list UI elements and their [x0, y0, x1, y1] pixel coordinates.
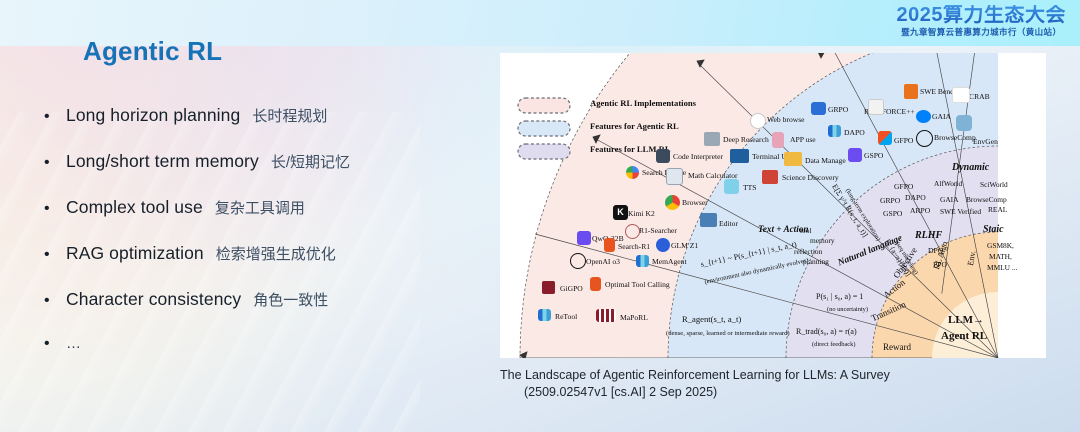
- agentic-algo-item: GSPO: [883, 210, 902, 218]
- impl-tool-label: Data Manage: [805, 157, 846, 165]
- microsoft-gfpo-icon: [878, 131, 892, 145]
- agentic-algo-item: ARPO: [910, 207, 930, 215]
- bullet-marker: •: [44, 201, 66, 217]
- llmrl-env-item: MMLU ...: [987, 264, 1017, 272]
- agentic-env-item: AlfWorld: [934, 180, 962, 188]
- r1-searcher-logo-icon: [625, 224, 640, 239]
- slide-canvas: 2025算力生态大会 暨九章智算云普惠算力城市行（黄山站） Agentic RL…: [0, 0, 1080, 432]
- inner-ring-label: Reward: [883, 343, 911, 353]
- list-item: • Character consistency 角色一致性: [44, 289, 484, 310]
- qwen-logo-icon: [577, 231, 591, 245]
- impl-model-label: OpenAI o3: [586, 258, 620, 266]
- science-flask-icon: [762, 170, 778, 184]
- deep-research-icon: [704, 132, 720, 146]
- bullet-text-zh: 长时程规划: [252, 105, 327, 126]
- agentic-env-item: GAIA: [940, 196, 958, 204]
- bullet-list: • Long horizon planning 长时程规划 • Long/sho…: [44, 105, 484, 377]
- impl-model-label: MaPoRL: [620, 314, 648, 322]
- code-interpreter-icon: [656, 149, 670, 163]
- agentic-action-item: memory: [810, 237, 835, 245]
- legend-item-implementations: Agentic RL Implementations: [580, 98, 696, 108]
- impl-algo-label: GRPO: [828, 106, 848, 114]
- bullet-text-zh: 复杂工具调用: [215, 197, 305, 218]
- data-folder-icon: [784, 152, 802, 166]
- optimal-tool-calling-icon: [590, 277, 601, 291]
- llmrl-reward-formula: R_trad(s₀, a) = r(a): [796, 328, 857, 336]
- legend-label: Agentic RL Implementations: [590, 98, 696, 108]
- agentic-env-item: REAL: [988, 206, 1007, 214]
- impl-model-label: MemAgent: [652, 258, 687, 266]
- bullet-marker: •: [44, 336, 66, 352]
- impl-tool-label: Science Discovery: [782, 174, 839, 182]
- agentic-env-item: BrowseComp: [966, 196, 1007, 204]
- impl-algo-label: DAPO: [844, 129, 865, 137]
- bullet-marker: •: [44, 247, 66, 263]
- diagram-center-label-line1: LLM→: [948, 315, 984, 327]
- agentic-reward-formula: R_agent(s_t, a_t): [682, 315, 741, 324]
- conference-logo: 2025算力生态大会 暨九章智算云普惠算力城市行（黄山站）: [897, 5, 1067, 37]
- impl-model-label: Kimi K2: [628, 210, 655, 218]
- bullet-marker: •: [44, 155, 66, 171]
- legend-item-agentic-features: Features for Agentic RL: [580, 121, 679, 131]
- meta-gaia-icon: [916, 110, 931, 123]
- kimi-logo-icon: K: [613, 205, 628, 220]
- conference-logo-title: 2025算力生态大会: [897, 5, 1067, 25]
- bullet-text-en: Long/short term memory: [66, 151, 259, 172]
- page-title: Agentic RL: [83, 36, 222, 67]
- figure-panel: Agentic RL Implementations Features for …: [500, 53, 1046, 358]
- legend-label: Features for Agentic RL: [590, 121, 679, 131]
- swe-bench-icon: [904, 84, 918, 99]
- search-r1-logo-icon: [604, 238, 615, 252]
- diagram-center-label-line2: Agent RL: [941, 331, 987, 343]
- google-search-icon: [626, 166, 639, 179]
- bullet-text-en: Complex tool use: [66, 197, 203, 218]
- llmrl-transition-note: (no uncertainty): [827, 307, 868, 314]
- calculator-icon: [666, 168, 683, 185]
- editor-icon: [700, 213, 717, 227]
- impl-tool-label: Editor: [719, 220, 738, 228]
- llmrl-algo-title: RLHF: [915, 231, 942, 242]
- bullet-text-zh: 长/短期记忆: [271, 151, 350, 172]
- llmrl-reward-note: (direct feedback): [812, 342, 855, 349]
- web-browse-icon: [750, 113, 766, 129]
- impl-model-label: ReTool: [555, 313, 577, 321]
- figure-caption: The Landscape of Agentic Reinforcement L…: [500, 367, 1060, 402]
- impl-model-label: R1-Searcher: [639, 227, 677, 235]
- dapo-icon: [828, 125, 841, 137]
- agentic-env-item: SciWorld: [980, 181, 1008, 189]
- figure-legend: [518, 98, 570, 159]
- llmrl-env-item: GSM8K,: [987, 242, 1014, 250]
- list-item: • …: [44, 335, 484, 352]
- gigpo-logo-icon: [542, 281, 555, 294]
- impl-benchmark-label: CRAB: [969, 93, 990, 101]
- llmrl-transition-formula: P(s₁ | s₀, a) = 1: [816, 293, 863, 301]
- qwen-gspo-icon: [848, 148, 862, 162]
- agentic-env-item: SWE Verified: [940, 208, 981, 216]
- impl-tool-label: APP use: [790, 136, 816, 144]
- memagent-logo-icon: [636, 255, 649, 267]
- agentic-env-title: Dynamic: [952, 163, 989, 174]
- bullet-text-zh: 角色一致性: [253, 289, 328, 310]
- app-use-icon: [772, 132, 784, 148]
- impl-benchmark-label: EnvGen: [973, 138, 998, 146]
- impl-tool-label: Code Interpreter: [673, 153, 723, 161]
- list-item: • Long horizon planning 长时程规划: [44, 105, 484, 126]
- conference-logo-subtitle: 暨九章智算云普惠算力城市行（黄山站）: [897, 28, 1067, 37]
- bullet-marker: •: [44, 109, 66, 125]
- impl-benchmark-label: BrowseComp: [934, 134, 976, 142]
- bullet-marker: •: [44, 293, 66, 309]
- list-item: • RAG optimization 检索增强生成优化: [44, 243, 484, 264]
- impl-tool-label: TTS: [743, 184, 757, 192]
- llmrl-env-title: Staic: [983, 225, 1004, 236]
- agentic-algo-item: GRPO: [880, 197, 900, 205]
- mit-logo-icon: [596, 309, 616, 322]
- bullet-text-zh: 检索增强生成优化: [216, 243, 336, 264]
- list-item: • Complex tool use 复杂工具调用: [44, 197, 484, 218]
- openai-logo-icon: [570, 253, 586, 269]
- agentic-action-item: reflection: [794, 248, 822, 256]
- retool-logo-icon: [538, 309, 551, 321]
- terminal-icon: [730, 149, 749, 163]
- chrome-browser-icon: [665, 195, 680, 210]
- impl-benchmark-label: GAIA: [932, 113, 951, 121]
- impl-algo-label: GSPO: [864, 152, 883, 160]
- openai-reinforce-icon: [868, 99, 884, 115]
- caption-line-1: The Landscape of Agentic Reinforcement L…: [500, 367, 1060, 384]
- agentic-reward-note: (dense, sparse, learned or intermediate …: [666, 330, 790, 337]
- agentic-algo-item: GFPO: [894, 183, 913, 191]
- caption-line-2: (2509.02547v1 [cs.AI] 2 Sep 2025): [500, 384, 1060, 401]
- impl-tool-label: Deep Research: [723, 136, 769, 144]
- bullet-text-en: Character consistency: [66, 289, 241, 310]
- tts-icon: [724, 179, 739, 194]
- impl-tool-label: Web browse: [767, 116, 805, 124]
- impl-model-label: GLM Z1: [671, 242, 698, 250]
- impl-algo-label: GFPO: [894, 137, 913, 145]
- glm-logo-icon: [656, 238, 670, 252]
- agentic-algo-item: DAPO: [905, 194, 926, 202]
- bullet-text-en: …: [66, 335, 81, 352]
- envgen-icon: [956, 115, 972, 131]
- crab-icon: [952, 87, 970, 103]
- deepseek-grpo-icon: [811, 102, 826, 115]
- bullet-text-en: RAG optimization: [66, 243, 204, 264]
- openai-browsecomp-icon: [916, 130, 933, 147]
- impl-model-label: Optimal Tool Calling: [605, 281, 670, 289]
- llmrl-env-item: MATH,: [989, 253, 1012, 261]
- impl-model-label: Search-R1: [618, 243, 650, 251]
- impl-tool-label: Browser: [682, 199, 708, 207]
- list-item: • Long/short term memory 长/短期记忆: [44, 151, 484, 172]
- bullet-text-en: Long horizon planning: [66, 105, 240, 126]
- impl-model-label: GiGPO: [560, 285, 583, 293]
- agentic-action-item: tool: [800, 227, 812, 235]
